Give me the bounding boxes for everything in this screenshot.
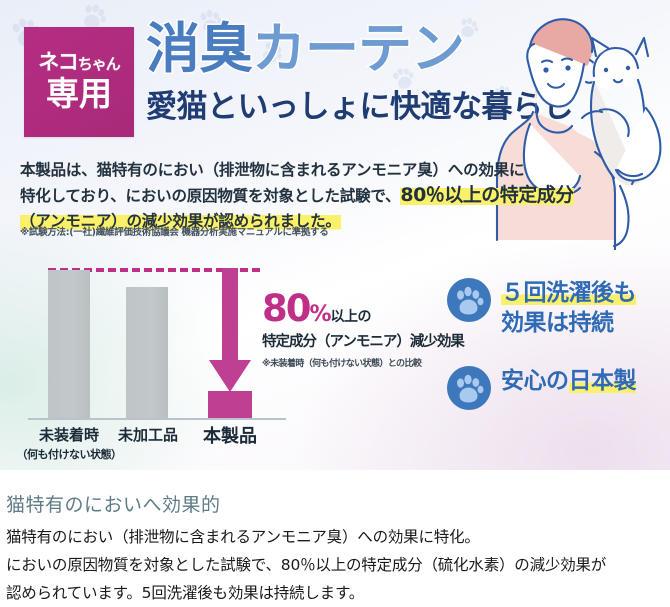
paw-icon: [447, 366, 491, 410]
chart-baseline-axis: [28, 418, 286, 420]
reduction-callout: 80%以上の 特定成分（アンモニア）減少効果 ※未装着時（何も付けない状態）との…: [262, 290, 442, 369]
chart-bar-untreated-none: [48, 270, 90, 418]
section-body-line-3: 認められています。5回洗濯後も効果は持続します。: [6, 579, 666, 607]
copy-line-1: 本製品は、猫特有のにおい（排泄物に含まれるアンモニア臭）への効果に: [20, 158, 450, 183]
feature-wash-line-2: 効果は持続: [501, 310, 614, 336]
feature-japan-plain: 安心の: [501, 368, 569, 394]
feature-wash-line-1: ５回洗濯後も: [501, 280, 636, 306]
callout-subtext: 特定成分（アンモニア）減少効果: [262, 330, 442, 351]
callout-percent: %: [310, 302, 331, 327]
badge-line-2: 専用: [46, 77, 112, 112]
feature-wash-text: ５回洗濯後も 効果は持続: [501, 278, 636, 338]
paw-icon: [447, 278, 491, 322]
description-section: 猫特有のにおいへ効果的 猫特有のにおい（排泄物に含まれるアンモニア臭）への効果に…: [0, 470, 670, 605]
chart-xlabel-0-main: 未装着時: [39, 426, 99, 444]
badge-main-text: ネコ: [38, 50, 78, 74]
callout-number: 80: [262, 287, 310, 330]
promo-banner: ネコちゃん 専用 消臭カーテン 愛猫といっしょに快適な暮らし: [0, 0, 670, 470]
badge-line-1: ネコちゃん: [38, 52, 120, 73]
title-kanji: 消臭: [146, 17, 252, 80]
section-body: 猫特有のにおい（排泄物に含まれるアンモニア臭）への効果に特化。 においの原因物質…: [6, 523, 666, 607]
callout-headline: 80%以上の: [262, 290, 442, 327]
feature-wash-durability: ５回洗濯後も 効果は持続: [447, 278, 636, 338]
title-katakana: カーテン: [252, 17, 464, 80]
chart-bar-unprocessed: [126, 287, 168, 418]
banner-copy: 本製品は、猫特有のにおい（排泄物に含まれるアンモニア臭）への効果に 特化しており…: [20, 158, 450, 234]
feature-japan-highlight: 日本製: [569, 368, 637, 394]
section-body-line-1: 猫特有のにおい（排泄物に含まれるアンモニア臭）への効果に特化。: [6, 523, 666, 551]
feature-made-in-japan: 安心の日本製: [447, 366, 636, 410]
ammonia-reduction-bar-chart: 未装着時（何も付けない状態） 未加工品 本製品: [14, 258, 294, 458]
callout-footnote: ※未装着時（何も付けない状態）との比較: [262, 356, 442, 369]
chart-xlabel-1: 未加工品: [106, 424, 190, 445]
section-body-line-2: においの原因物質を対象とした試験で、80％以上の特定成分（硫化水素）の減少効果が: [6, 551, 666, 579]
copy-line-2-highlight: 80％以上の特定成分: [400, 184, 573, 206]
reduction-arrow-icon: [204, 268, 256, 404]
banner-header: ネコちゃん 専用 消臭カーテン 愛猫といっしょに快適な暮らし: [0, 0, 670, 150]
cat-only-badge: ネコちゃん 専用: [24, 27, 134, 137]
copy-line-2-plain: 特化しており、においの原因物質を対象とした試験で、: [20, 187, 400, 205]
badge-small-text: ちゃん: [78, 55, 120, 73]
page-title: 消臭カーテン: [146, 22, 464, 76]
callout-suffix: 以上の: [331, 309, 372, 325]
chart-xlabel-2: 本製品: [192, 422, 268, 448]
copy-line-2: 特化しており、においの原因物質を対象とした試験で、80％以上の特定成分: [20, 183, 450, 209]
feature-japan-text: 安心の日本製: [501, 366, 636, 396]
test-method-note: ※試験方法:(一社)繊維評価技術協議会 機器分析実施マニュアルに準拠する: [20, 224, 328, 238]
chart-xlabel-0-sub: （何も付けない状態）: [16, 446, 122, 462]
person-holding-cat-illustration: [470, 0, 670, 250]
section-heading: 猫特有のにおいへ効果的: [6, 490, 221, 517]
